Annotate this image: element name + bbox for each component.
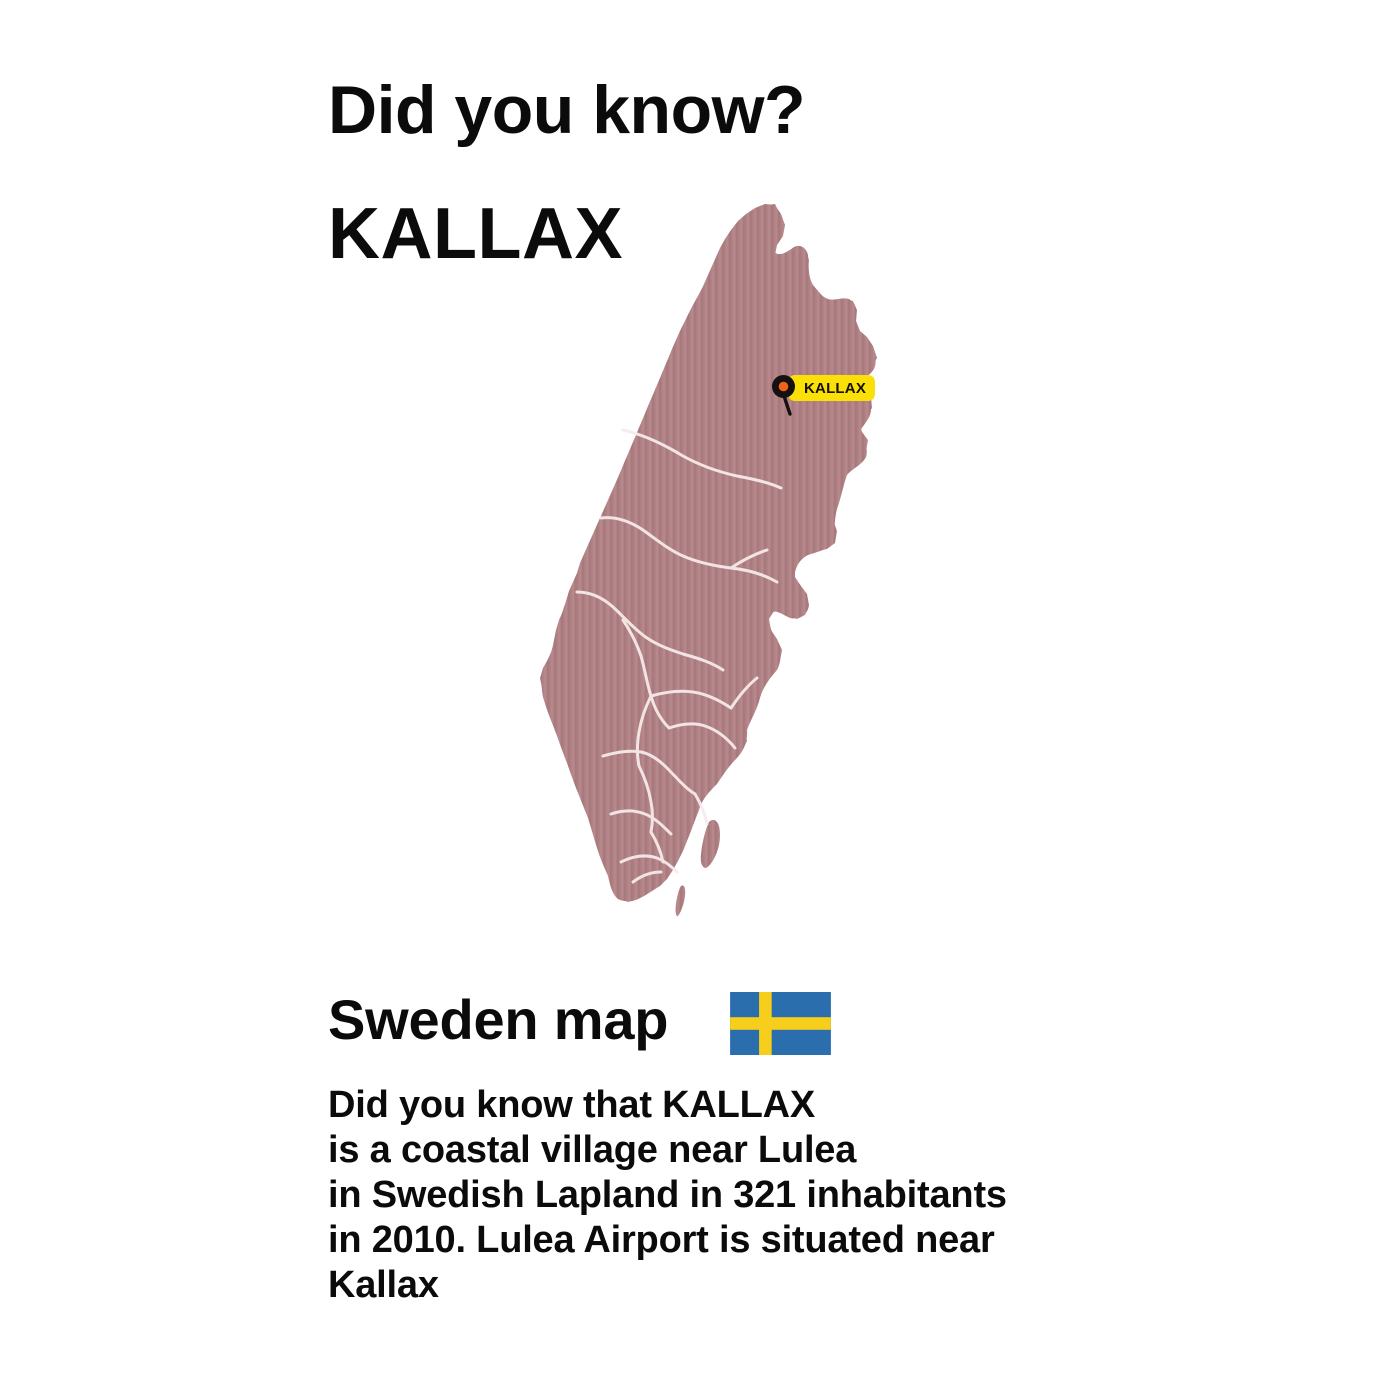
fact-line-3: in Swedish Lapland in 321 inhabitants: [328, 1173, 1128, 1218]
sweden-map-svg: [505, 200, 905, 960]
fact-line-1: Did you know that KALLAX: [328, 1083, 1128, 1128]
sweden-shape-path: [542, 204, 876, 901]
fact-paragraph: Did you know that KALLAX is a coastal vi…: [328, 1083, 1128, 1308]
fact-line-5: Kallax: [328, 1263, 1128, 1308]
map-pin-icon: [770, 372, 804, 416]
map-caption: Sweden map: [328, 992, 668, 1048]
oland-island: [676, 885, 686, 916]
sweden-map-graphic: [505, 200, 905, 960]
sweden-shape-detail: [542, 204, 876, 901]
gotland-island: [701, 820, 720, 868]
fact-line-2: is a coastal village near Lulea: [328, 1128, 1128, 1173]
poster-canvas: Did you know? KALLAX: [0, 0, 1400, 1400]
sweden-flag-svg: [730, 992, 831, 1055]
marker-label-text: KALLAX: [804, 381, 866, 396]
fact-line-4: in 2010. Lulea Airport is situated near: [328, 1218, 1128, 1263]
map-marker-kallax[interactable]: KALLAX: [770, 372, 880, 428]
page-title: Did you know?: [328, 76, 805, 144]
sweden-flag-icon: [730, 992, 831, 1055]
